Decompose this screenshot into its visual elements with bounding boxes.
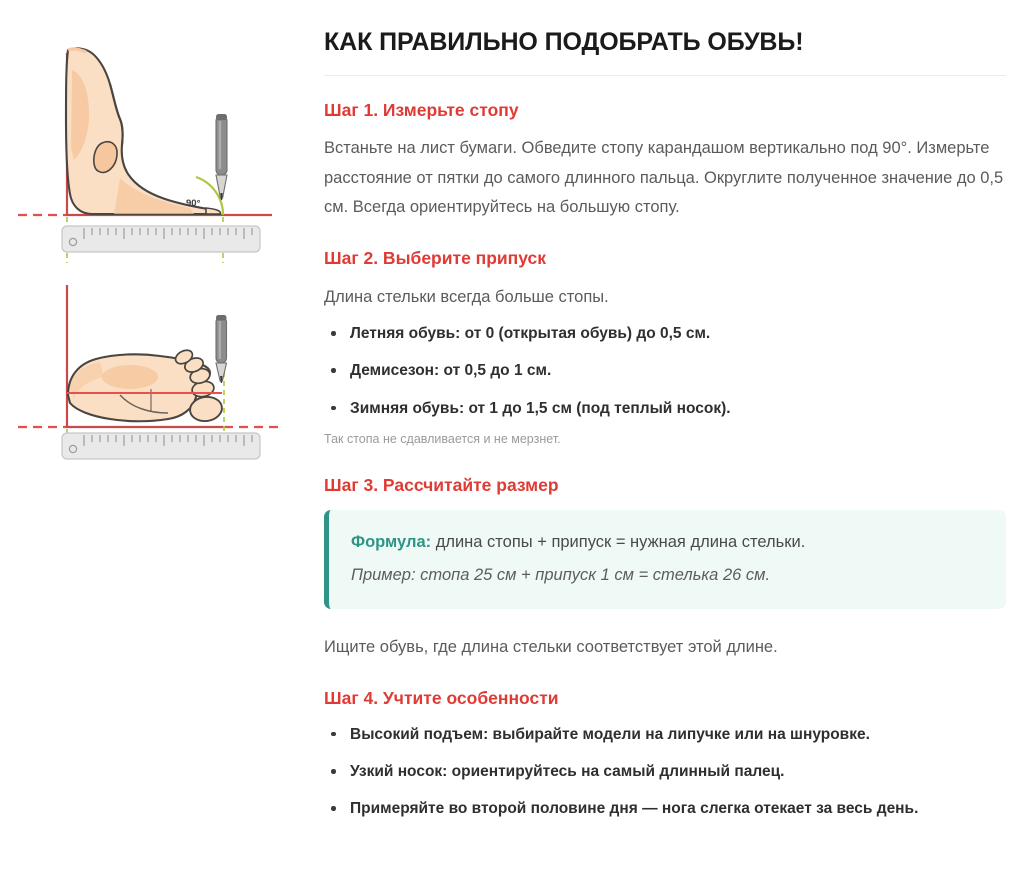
foot-side-view-figure: 90° xyxy=(10,18,310,273)
foot-shape-top xyxy=(68,347,224,423)
step-2-lead: Длина стельки всегда больше стопы. xyxy=(324,283,1006,312)
step-3-after-text: Ищите обувь, где длина стельки соответст… xyxy=(324,633,1006,662)
step-1-section: Шаг 1. Измерьте стопу Встаньте на лист б… xyxy=(324,100,1006,223)
step-2-bullet-list: Летняя обувь: от 0 (открытая обувь) до 0… xyxy=(324,322,1006,420)
illustration-column: 90° xyxy=(0,0,320,467)
page-root: 90° xyxy=(0,0,1024,873)
step-3-title: Шаг 3. Рассчитайте размер xyxy=(324,475,1006,497)
title-divider xyxy=(324,75,1006,76)
step-1-paragraph: Встаньте на лист бумаги. Обведите стопу … xyxy=(324,134,1006,222)
list-item: Высокий подъем: выбирайте модели на липу… xyxy=(324,723,1006,746)
formula-label: Формула: xyxy=(351,533,431,551)
foot-shape-side xyxy=(66,48,220,214)
formula-text: длина стопы + припуск = нужная длина сте… xyxy=(431,533,805,551)
formula-line: Формула: длина стопы + припуск = нужная … xyxy=(351,530,982,556)
list-item: Примеряйте во второй половине дня — нога… xyxy=(324,797,1006,820)
ruler-top xyxy=(62,433,260,459)
ruler-side xyxy=(62,226,260,252)
list-item: Зимняя обувь: от 1 до 1,5 см (под теплый… xyxy=(324,397,1006,420)
list-item: Летняя обувь: от 0 (открытая обувь) до 0… xyxy=(324,322,1006,345)
list-item: Узкий носок: ориентируйтесь на самый дли… xyxy=(324,760,1006,783)
page-title: КАК ПРАВИЛЬНО ПОДОБРАТЬ ОБУВЬ! xyxy=(324,28,1006,58)
step-2-title: Шаг 2. Выберите припуск xyxy=(324,248,1006,270)
step-4-bullet-list: Высокий подъем: выбирайте модели на липу… xyxy=(324,723,1006,821)
list-item: Демисезон: от 0,5 до 1 см. xyxy=(324,359,1006,382)
step-3-section: Шаг 3. Рассчитайте размер Формула: длина… xyxy=(324,475,1006,662)
step-2-section: Шаг 2. Выберите припуск Длина стельки вс… xyxy=(324,248,1006,448)
pencil-icon-top xyxy=(216,315,227,383)
content-column: КАК ПРАВИЛЬНО ПОДОБРАТЬ ОБУВЬ! Шаг 1. Из… xyxy=(320,0,1024,847)
formula-callout: Формула: длина стопы + припуск = нужная … xyxy=(324,510,1006,609)
step-4-title: Шаг 4. Учтите особенности xyxy=(324,688,1006,710)
formula-example: Пример: стопа 25 см + припуск 1 см = сте… xyxy=(351,564,982,588)
foot-top-view-figure xyxy=(10,277,310,467)
step-2-note: Так стопа не сдавливается и не мерзнет. xyxy=(324,430,1006,449)
step-4-section: Шаг 4. Учтите особенности Высокий подъем… xyxy=(324,688,1006,821)
pencil-icon xyxy=(216,114,227,200)
angle-label-90: 90° xyxy=(186,198,201,209)
step-1-title: Шаг 1. Измерьте стопу xyxy=(324,100,1006,122)
